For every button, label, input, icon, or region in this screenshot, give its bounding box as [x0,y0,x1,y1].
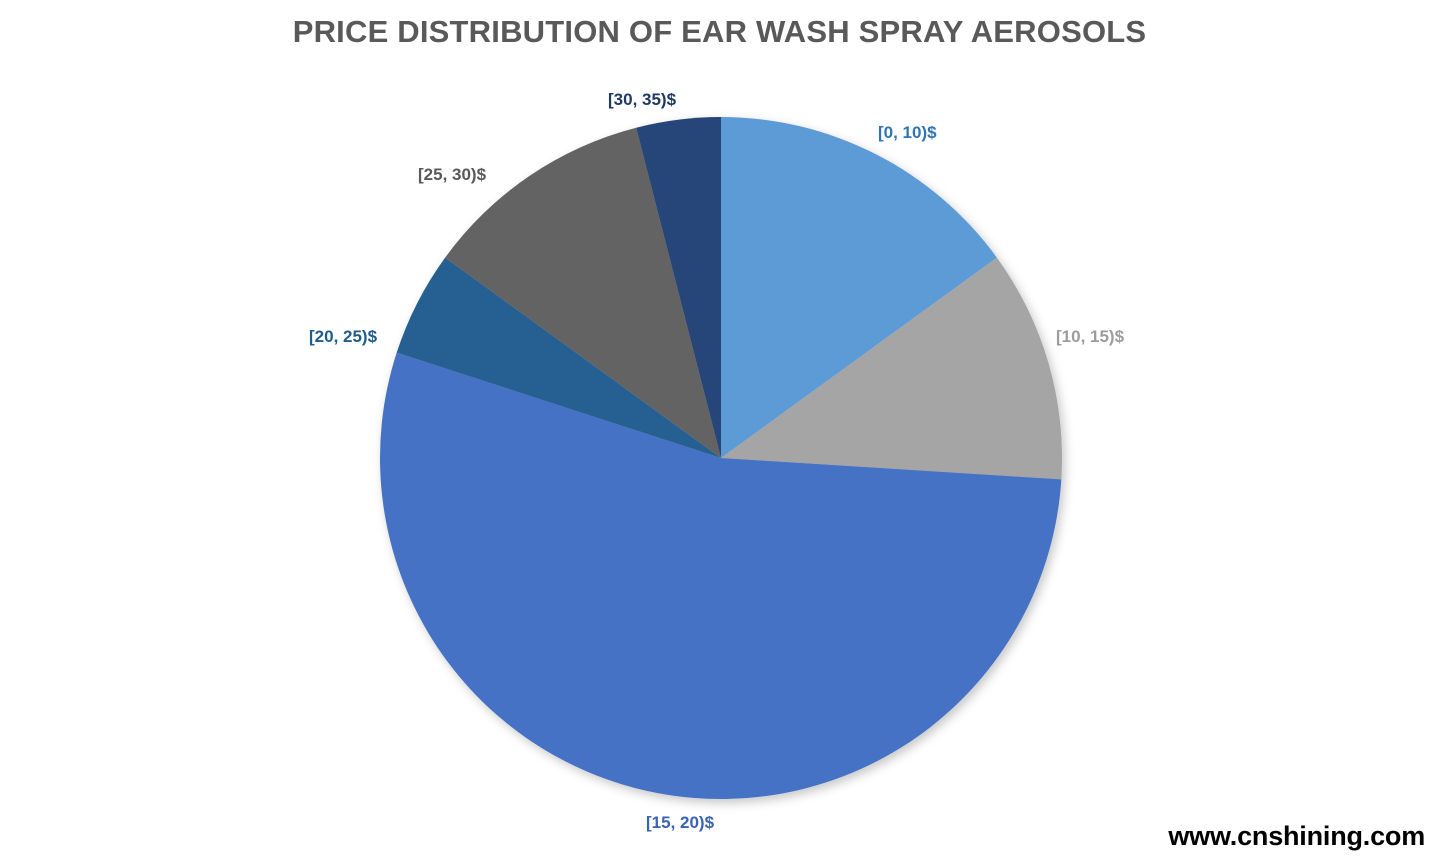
slice-label-0-10: [0, 10)$ [878,123,937,143]
site-watermark: www.cnshining.com [1168,821,1425,852]
pie-plot-area: [0, 10)$ [10, 15)$ [15, 20)$ [20, 25)$ [… [378,115,1064,801]
pie-slices-group [380,117,1062,799]
slice-label-25-30: [25, 30)$ [418,165,486,185]
pie-chart-figure: PRICE DISTRIBUTION OF EAR WASH SPRAY AER… [0,0,1439,864]
pie-svg [378,115,1064,801]
slice-label-20-25: [20, 25)$ [309,327,377,347]
chart-title: PRICE DISTRIBUTION OF EAR WASH SPRAY AER… [0,14,1439,50]
slice-label-10-15: [10, 15)$ [1056,327,1124,347]
slice-label-15-20: [15, 20)$ [646,813,714,833]
slice-label-30-35: [30, 35)$ [608,90,676,110]
